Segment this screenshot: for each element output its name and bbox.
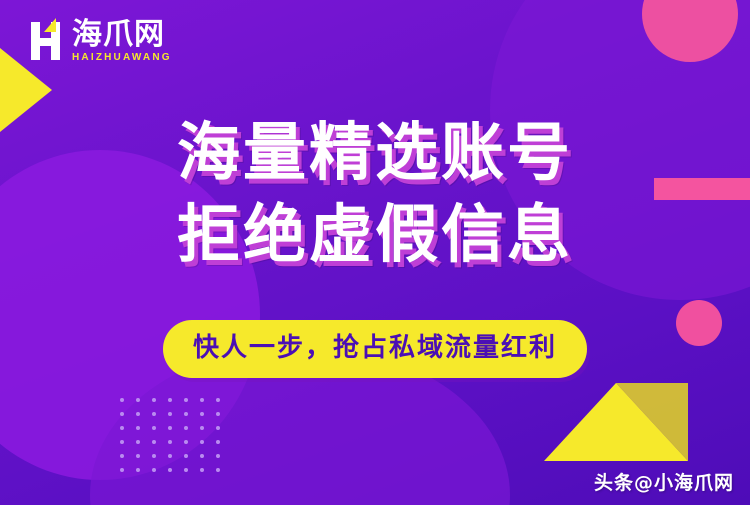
logo-name-en: HAIZHUAWANG (72, 52, 172, 64)
headline-line-1: 海量精选账号 (0, 112, 750, 194)
yellow-triangle-bottom-right-shade-icon (616, 383, 688, 461)
logo-name-cn: 海爪网 (72, 19, 172, 51)
credit-text: 头条@小海爪网 (594, 468, 734, 495)
headline-line-2: 拒绝虚假信息 (0, 194, 750, 276)
dot-pattern-icon (120, 398, 240, 476)
h-monogram-icon (24, 18, 68, 64)
subtitle-text: 快人一步，抢占私域流量红利 (193, 333, 557, 363)
pink-circle-right-icon (676, 300, 722, 346)
subtitle-pill: 快人一步，抢占私域流量红利 (163, 320, 587, 378)
headline: 海量精选账号 拒绝虚假信息 (0, 112, 750, 276)
logo-text-block: 海爪网 HAIZHUAWANG (72, 19, 172, 64)
promo-banner: 海爪网 HAIZHUAWANG 海量精选账号 拒绝虚假信息 快人一步，抢占私域流… (0, 0, 750, 505)
site-logo[interactable]: 海爪网 HAIZHUAWANG (24, 12, 172, 70)
